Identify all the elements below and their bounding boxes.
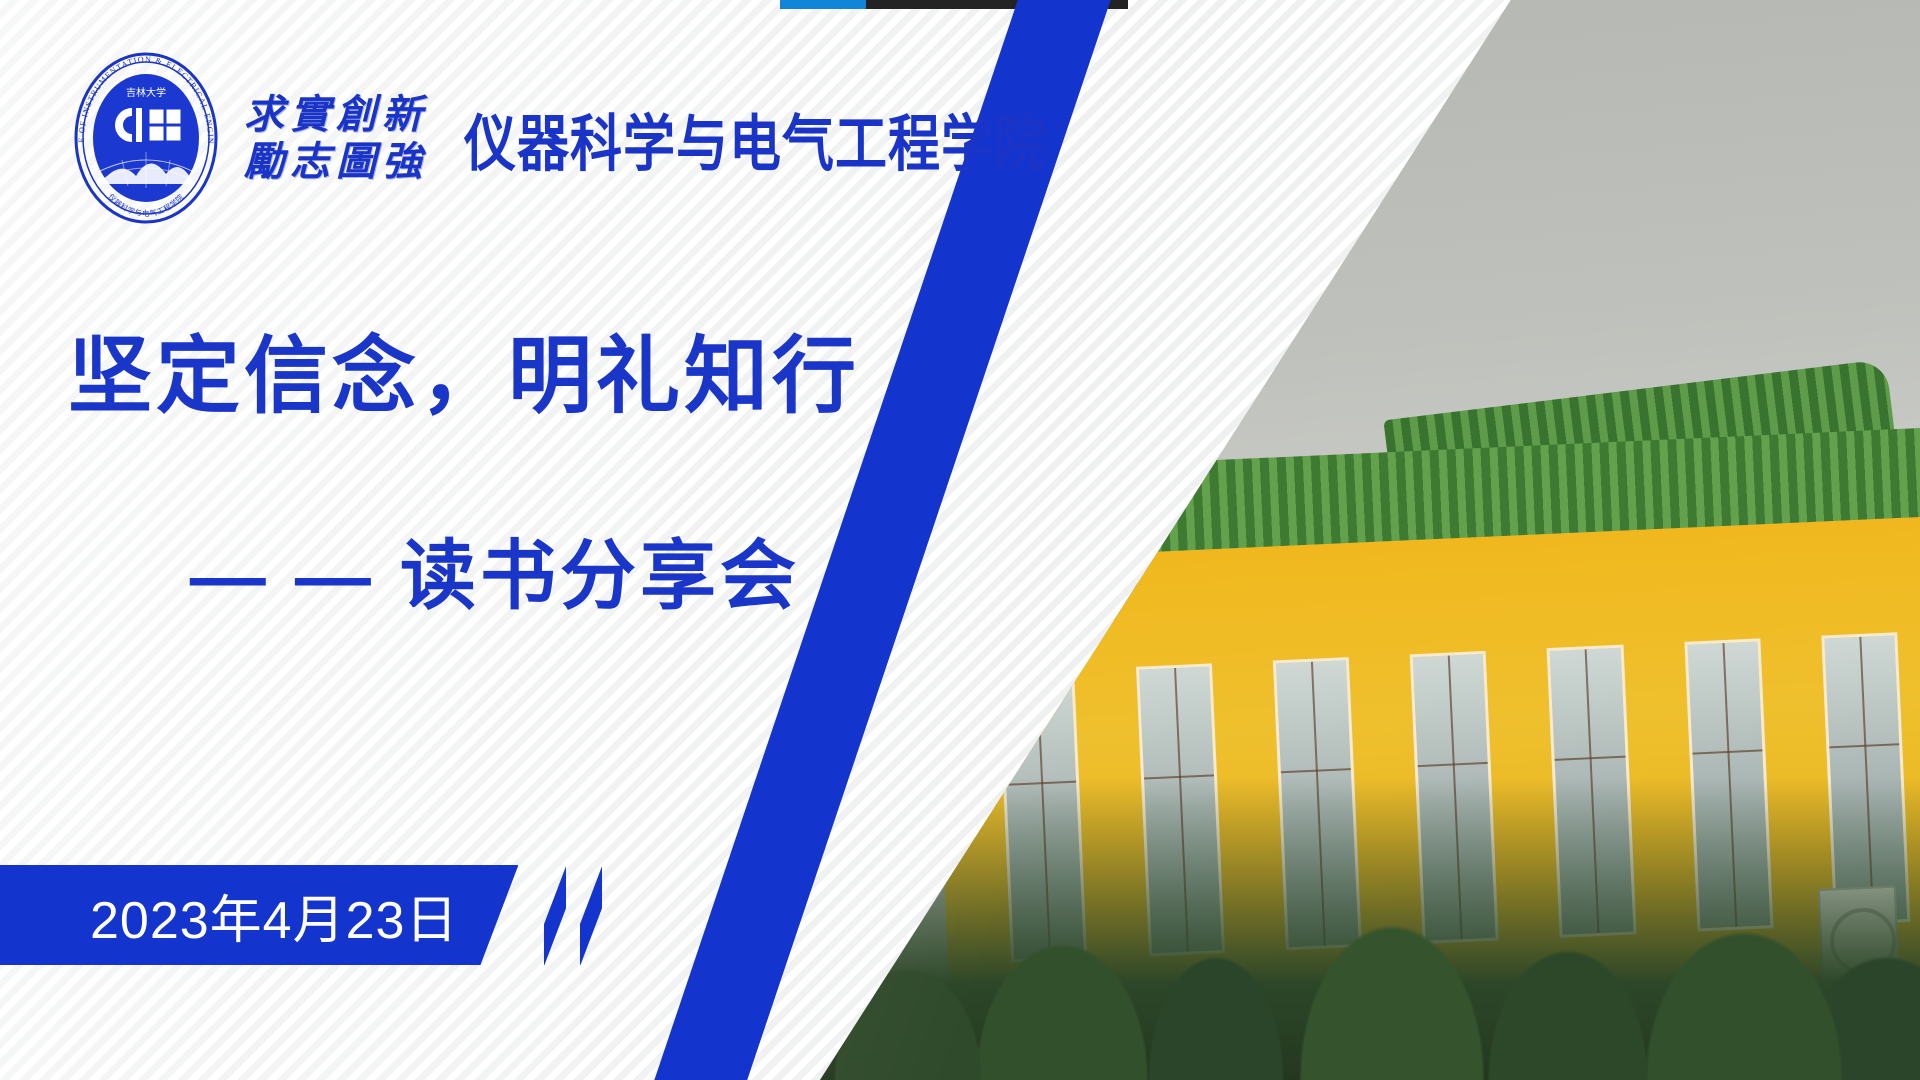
slide-subtitle: — — 读书分享会	[0, 514, 800, 624]
college-seal-logo: COLLEGE OF INSTRUMENTATION & ELECTRICAL …	[70, 52, 222, 224]
college-slogan: 求實創新 勵志圖強	[244, 93, 428, 183]
progress-bar-filled	[780, 0, 866, 9]
slash-accent-1	[544, 865, 566, 965]
college-name: 仪器科学与电气工程学院	[464, 94, 1047, 183]
title-block: 坚定信念，明礼知行 — — 读书分享会	[0, 330, 1000, 624]
date-banner-row: 2023年4月23日	[0, 865, 602, 965]
presentation-slide: COLLEGE OF INSTRUMENTATION & ELECTRICAL …	[0, 0, 1920, 1080]
date-text: 2023年4月23日	[90, 878, 458, 953]
progress-bar-track	[866, 0, 1128, 9]
header: COLLEGE OF INSTRUMENTATION & ELECTRICAL …	[70, 52, 1047, 224]
slogan-line-1: 求實創新	[244, 93, 428, 136]
top-progress-bar[interactable]	[780, 0, 1128, 9]
slash-accent-2	[580, 865, 602, 965]
slide-title: 坚定信念，明礼知行	[68, 330, 1000, 422]
slogan-line-2: 勵志圖強	[244, 140, 428, 183]
date-banner: 2023年4月23日	[0, 865, 518, 965]
svg-text:吉林大学: 吉林大学	[126, 86, 166, 99]
